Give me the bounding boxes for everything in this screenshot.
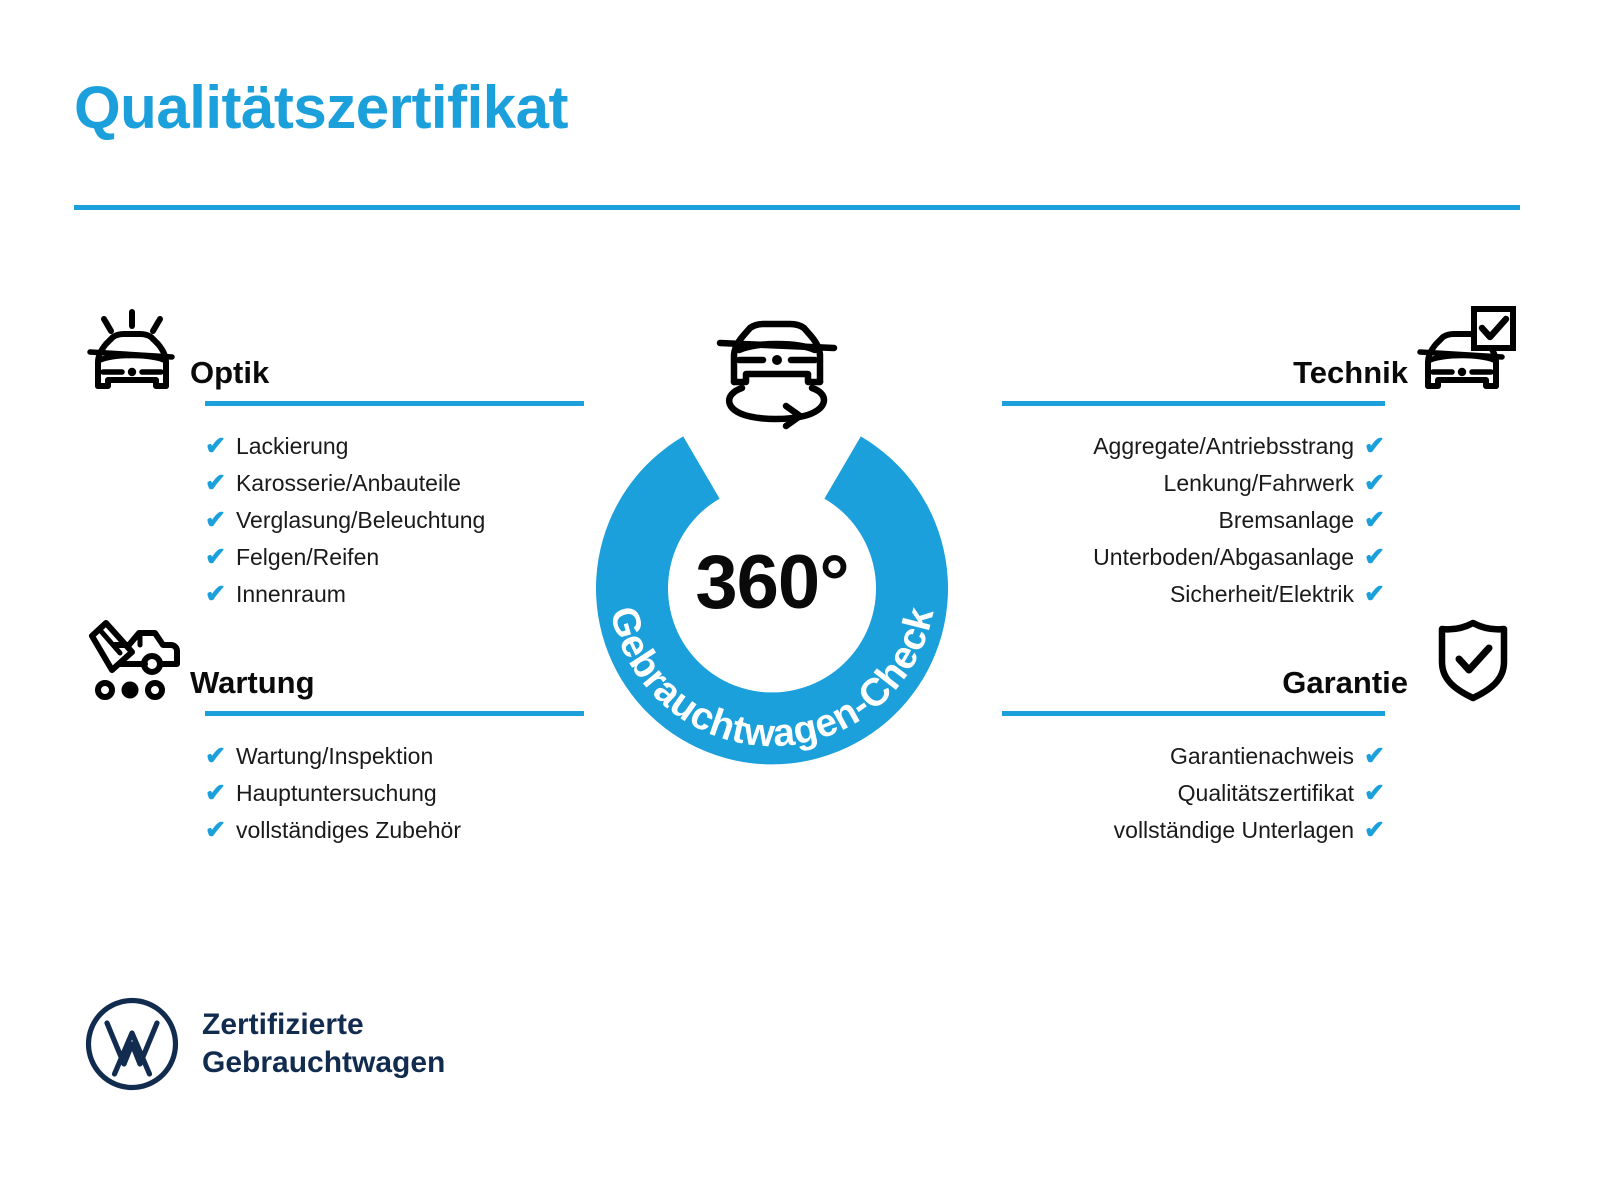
- section-garantie-title: Garantie: [1282, 667, 1408, 702]
- list-item-label: Bremsanlage: [1219, 509, 1355, 532]
- section-wartung: Wartung ✔Wartung/Inspektion ✔Hauptunters…: [74, 632, 584, 849]
- check-icon: ✔: [205, 781, 226, 806]
- footer-logo: Zertifizierte Gebrauchtwagen: [84, 996, 445, 1092]
- section-optik-divider: [205, 401, 584, 406]
- list-item: ✔Wartung/Inspektion: [205, 738, 584, 775]
- list-item-label: Garantienachweis: [1170, 745, 1354, 768]
- section-optik-list: ✔Lackierung ✔Karosserie/Anbauteile ✔Verg…: [74, 428, 584, 613]
- list-item-label: Qualitätszertifikat: [1178, 782, 1354, 805]
- section-garantie-list: Garantienachweis✔ Qualitätszertifikat✔ v…: [1002, 738, 1520, 849]
- check-icon: ✔: [205, 818, 226, 843]
- check-icon: ✔: [1364, 818, 1385, 843]
- check-icon: ✔: [205, 508, 226, 533]
- list-item: ✔Felgen/Reifen: [205, 539, 584, 576]
- list-item-label: Unterboden/Abgasanlage: [1093, 546, 1354, 569]
- list-item-label: Aggregate/Antriebsstrang: [1093, 435, 1354, 458]
- page-title: Qualitätszertifikat: [74, 76, 568, 139]
- list-item-label: Hauptuntersuchung: [236, 782, 437, 805]
- section-optik: Optik ✔Lackierung ✔Karosserie/Anbauteile…: [74, 322, 584, 613]
- list-item: Qualitätszertifikat✔: [1002, 775, 1385, 812]
- section-optik-header: Optik: [74, 322, 584, 392]
- section-technik: Technik Aggregate/Antriebsstrang✔ Lenkun…: [1002, 322, 1520, 613]
- check-icon: ✔: [1364, 545, 1385, 570]
- check-icon: ✔: [205, 434, 226, 459]
- check-icon: ✔: [1364, 744, 1385, 769]
- check-icon: ✔: [205, 471, 226, 496]
- section-optik-title: Optik: [190, 357, 269, 392]
- list-item-label: Lackierung: [236, 435, 349, 458]
- check-icon: ✔: [205, 744, 226, 769]
- header-divider: [74, 205, 1520, 210]
- section-technik-list: Aggregate/Antriebsstrang✔ Lenkung/Fahrwe…: [1002, 428, 1520, 613]
- section-wartung-title: Wartung: [190, 667, 315, 702]
- section-technik-header: Technik: [1002, 322, 1520, 392]
- check-icon: ✔: [1364, 582, 1385, 607]
- list-item-label: Verglasung/Beleuchtung: [236, 509, 485, 532]
- list-item: ✔vollständiges Zubehör: [205, 812, 584, 849]
- list-item: ✔Karosserie/Anbauteile: [205, 465, 584, 502]
- list-item: vollständige Unterlagen✔: [1002, 812, 1385, 849]
- car-rotation-icon: [694, 310, 860, 450]
- list-item: ✔Lackierung: [205, 428, 584, 465]
- check-icon: ✔: [1364, 781, 1385, 806]
- list-item-label: Felgen/Reifen: [236, 546, 379, 569]
- list-item-label: Wartung/Inspektion: [236, 745, 433, 768]
- section-wartung-divider: [205, 711, 584, 716]
- section-garantie: Garantie Garantienachweis✔ Qualitätszert…: [1002, 632, 1520, 849]
- section-garantie-header: Garantie: [1002, 632, 1520, 702]
- footer-logo-text: Zertifizierte Gebrauchtwagen: [202, 1006, 445, 1083]
- list-item-label: Karosserie/Anbauteile: [236, 472, 461, 495]
- list-item: ✔Verglasung/Beleuchtung: [205, 502, 584, 539]
- list-item-label: Lenkung/Fahrwerk: [1164, 472, 1355, 495]
- list-item: Lenkung/Fahrwerk✔: [1002, 465, 1385, 502]
- section-technik-divider: [1002, 401, 1385, 406]
- footer-logo-line2: Gebrauchtwagen: [202, 1044, 445, 1082]
- check-icon: ✔: [1364, 508, 1385, 533]
- car-shine-icon: [74, 306, 190, 392]
- list-item: ✔Innenraum: [205, 576, 584, 613]
- list-item-label: Sicherheit/Elektrik: [1170, 583, 1354, 606]
- section-wartung-header: Wartung: [74, 632, 584, 702]
- check-icon: ✔: [205, 582, 226, 607]
- check-icon: ✔: [1364, 434, 1385, 459]
- pencil-car-service-icon: [74, 616, 190, 702]
- footer-logo-line1: Zertifizierte: [202, 1006, 445, 1044]
- list-item: Bremsanlage✔: [1002, 502, 1385, 539]
- list-item: Aggregate/Antriebsstrang✔: [1002, 428, 1385, 465]
- check-icon: ✔: [205, 545, 226, 570]
- list-item-label: Innenraum: [236, 583, 346, 606]
- car-checkbox-icon: [1408, 306, 1520, 392]
- list-item: Garantienachweis✔: [1002, 738, 1385, 775]
- section-technik-title: Technik: [1293, 357, 1408, 392]
- check-icon: ✔: [1364, 471, 1385, 496]
- shield-check-icon: [1408, 616, 1520, 702]
- list-item: Sicherheit/Elektrik✔: [1002, 576, 1385, 613]
- list-item-label: vollständiges Zubehör: [236, 819, 461, 842]
- volkswagen-logo: [84, 996, 180, 1092]
- list-item: Unterboden/Abgasanlage✔: [1002, 539, 1385, 576]
- list-item-label: vollständige Unterlagen: [1114, 819, 1354, 842]
- section-garantie-divider: [1002, 711, 1385, 716]
- list-item: ✔Hauptuntersuchung: [205, 775, 584, 812]
- section-wartung-list: ✔Wartung/Inspektion ✔Hauptuntersuchung ✔…: [74, 738, 584, 849]
